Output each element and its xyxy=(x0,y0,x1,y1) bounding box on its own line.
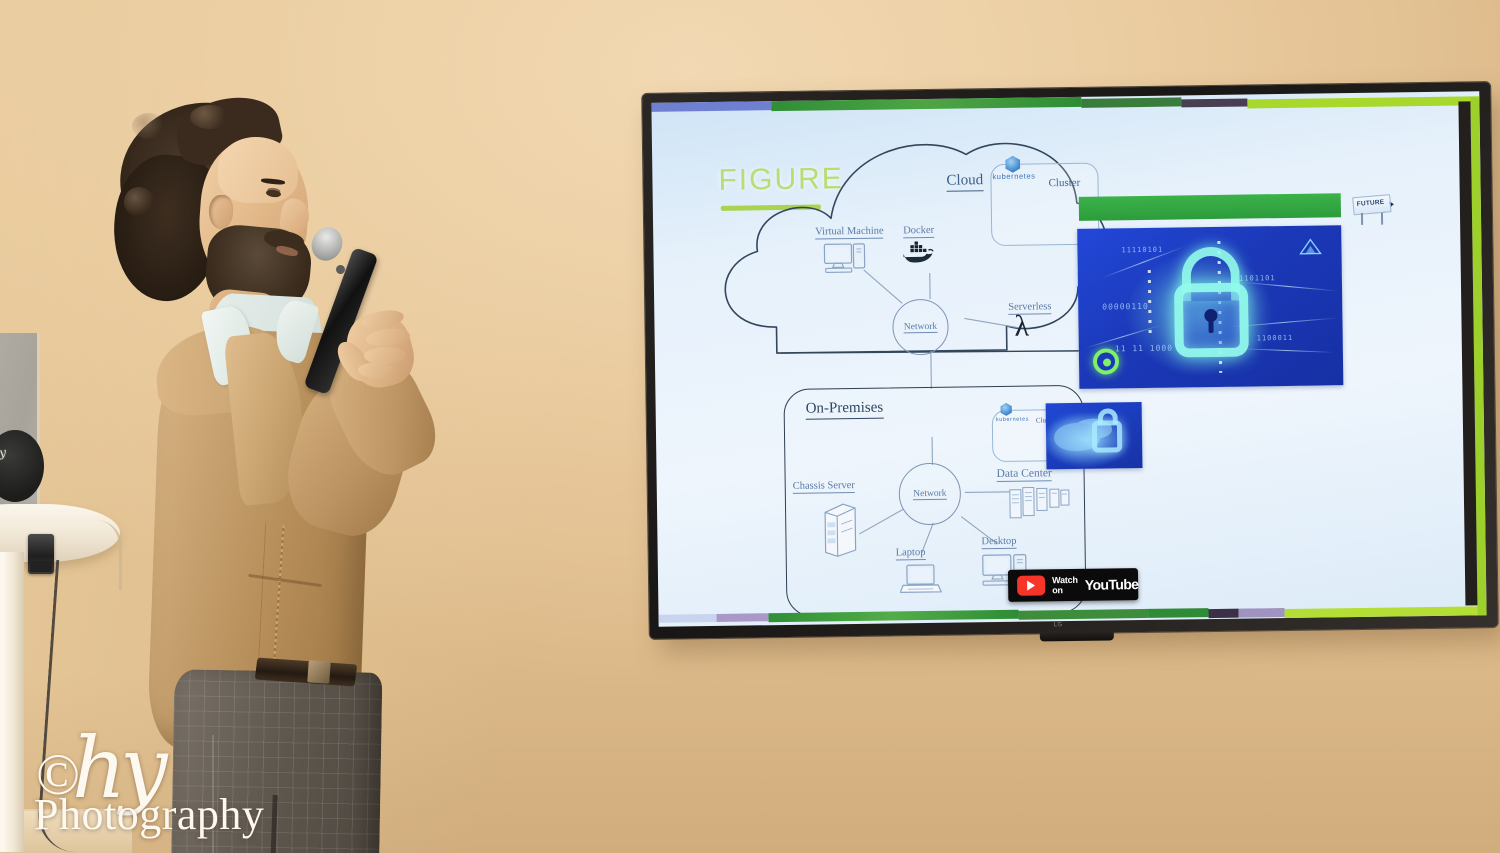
trouser-crease xyxy=(212,735,214,853)
security-panel-header xyxy=(1079,193,1341,221)
node-label-laptop: Laptop xyxy=(896,547,926,560)
kubernetes-label: kubernetes xyxy=(996,417,1029,423)
cloud-lock-image xyxy=(1046,402,1143,469)
node-label-chassis-server: Chassis Server xyxy=(793,480,855,493)
mic-clamp[interactable] xyxy=(28,534,54,574)
venue-logo-text: hy xyxy=(0,447,6,460)
television[interactable]: FIGURE Cloud xyxy=(642,82,1498,639)
tv-bezel: FIGURE Cloud xyxy=(642,82,1498,639)
server-rack-icon xyxy=(821,498,860,561)
padlock-keyhole xyxy=(1204,309,1217,322)
kubernetes-label: kubernetes xyxy=(992,171,1035,181)
tv-brand-mark: LG xyxy=(1054,622,1063,628)
hair-curl xyxy=(132,113,166,139)
presenter xyxy=(80,95,410,853)
photo-scene: hy xyxy=(0,0,1500,853)
youtube-watch-label: Watch on xyxy=(1052,575,1078,595)
microphone-head xyxy=(306,222,347,265)
sign-post xyxy=(1381,213,1383,225)
youtube-brand-label: YouTube xyxy=(1085,576,1139,593)
security-image: 11110101 00000110 11101101 11 11 1000 11… xyxy=(1077,225,1343,389)
node-label-desktop: Desktop xyxy=(981,536,1016,549)
watermark-logo-icon xyxy=(1293,237,1327,259)
sign-post xyxy=(1361,213,1363,225)
datacenter-racks-icon xyxy=(1009,485,1071,520)
future-sign-label: FUTURE xyxy=(1356,199,1384,208)
node-label-virtual-machine: Virtual Machine xyxy=(815,226,884,239)
lectern-column xyxy=(0,552,24,852)
desktop-computer-icon xyxy=(823,242,867,275)
belt-buckle xyxy=(307,660,330,683)
youtube-play-icon xyxy=(1017,575,1045,595)
docker-whale-icon xyxy=(901,241,935,265)
hair-curl xyxy=(190,105,230,129)
cloud-group: Cloud Virtual Machine xyxy=(704,110,1128,406)
laptop-icon xyxy=(900,563,942,596)
dot-column xyxy=(1148,270,1152,340)
node-label-data-center: Data Center xyxy=(996,467,1051,481)
ear xyxy=(209,195,233,229)
binary-text: 11110101 xyxy=(1121,246,1163,255)
cluster-label: Cluster xyxy=(1048,177,1080,189)
binary-text: 11101101 xyxy=(1234,274,1276,283)
node-label-docker: Docker xyxy=(903,225,934,238)
future-sign-board: FUTURE xyxy=(1352,194,1391,215)
padlock-body xyxy=(1092,420,1122,452)
tv-stand xyxy=(1040,630,1114,641)
slide-content: FIGURE Cloud xyxy=(651,91,1486,627)
binary-text: 1100011 xyxy=(1257,334,1294,343)
forehead xyxy=(218,137,298,203)
youtube-badge[interactable]: Watch on YouTube xyxy=(1008,568,1138,602)
node-label-network: Network xyxy=(913,488,946,499)
binary-text: 00000110 xyxy=(1102,302,1149,312)
streak xyxy=(1239,348,1335,353)
streak xyxy=(1238,281,1338,291)
node-label-network: Network xyxy=(904,321,937,332)
binary-text: 11 11 1000 xyxy=(1115,344,1173,354)
tv-screen: FIGURE Cloud xyxy=(651,91,1486,627)
hair-curl xyxy=(124,187,154,217)
target-ring-icon xyxy=(1093,348,1119,374)
lambda-icon: λ xyxy=(1014,312,1029,342)
future-sign: FUTURE xyxy=(1353,195,1399,230)
